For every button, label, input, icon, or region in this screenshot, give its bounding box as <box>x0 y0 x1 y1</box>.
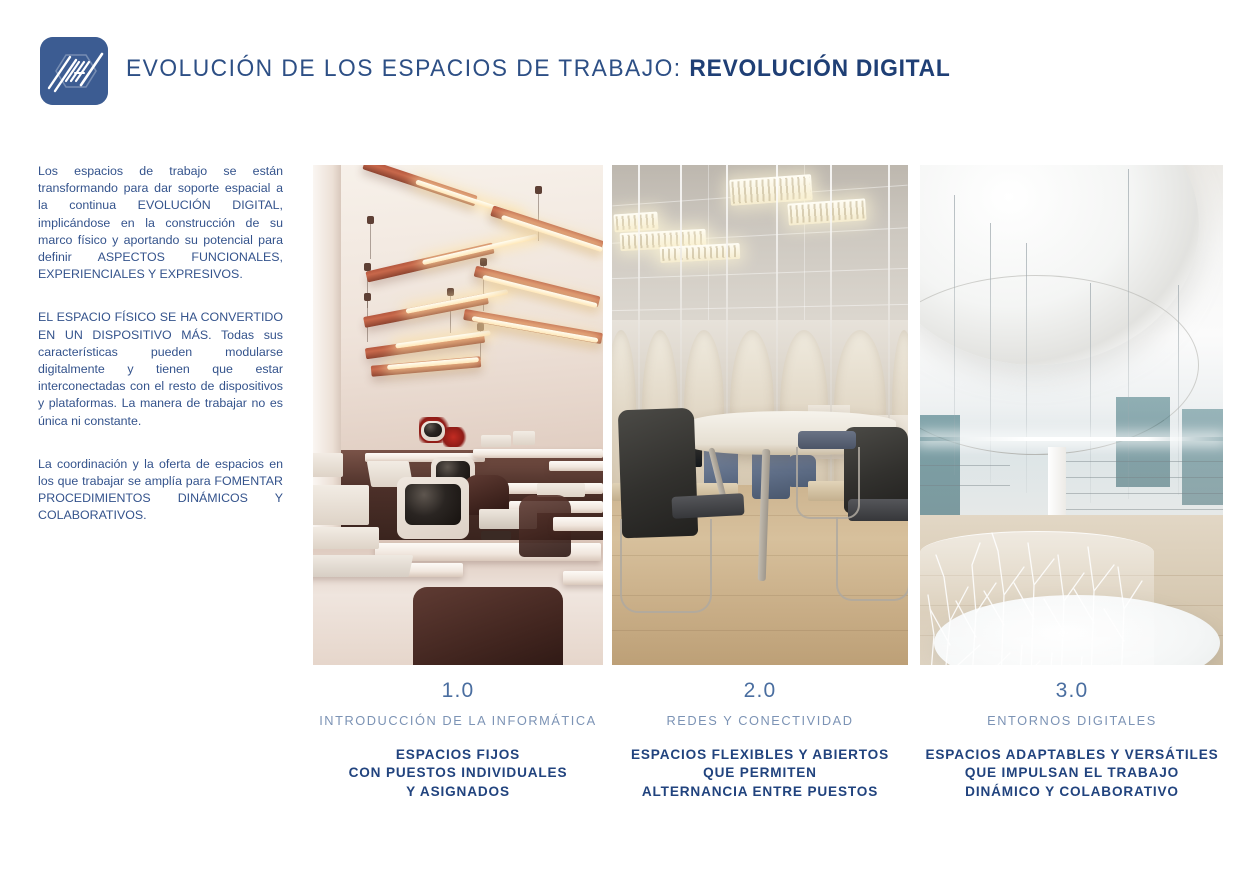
caption-group-2: 2.0 REDES Y CONECTIVIDAD ESPACIOS FLEXIB… <box>603 678 917 801</box>
caption-description-line: QUE PERMITEN <box>603 764 917 782</box>
caption-description-line: QUE IMPULSAN EL TRABAJO <box>909 764 1235 782</box>
caption-description-2: ESPACIOS FLEXIBLES Y ABIERTOS QUE PERMIT… <box>603 746 917 801</box>
photo-1-artwork <box>313 165 603 665</box>
caption-description-1: ESPACIOS FIJOS CON PUESTOS INDIVIDUALES … <box>295 746 621 801</box>
caption-description-line: DINÁMICO Y COLABORATIVO <box>909 783 1235 801</box>
caption-description-line: Y ASIGNADOS <box>295 783 621 801</box>
photo-gallery <box>313 165 1223 665</box>
caption-description-line: ESPACIOS FIJOS <box>295 746 621 764</box>
caption-phase-2: REDES Y CONECTIVIDAD <box>603 713 917 729</box>
caption-description-line: ESPACIOS FLEXIBLES Y ABIERTOS <box>603 746 917 764</box>
caption-description-line: ALTERNANCIA ENTRE PUESTOS <box>603 783 917 801</box>
company-monogram-icon <box>40 37 108 105</box>
page-title: EVOLUCIÓN DE LOS ESPACIOS DE TRABAJO: RE… <box>126 55 951 83</box>
caption-description-3: ESPACIOS ADAPTABLES Y VERSÁTILES QUE IMP… <box>909 746 1235 801</box>
caption-phase-3: ENTORNOS DIGITALES <box>909 713 1235 729</box>
caption-group-1: 1.0 INTRODUCCIÓN DE LA INFORMÁTICA ESPAC… <box>295 678 621 801</box>
caption-row: 1.0 INTRODUCCIÓN DE LA INFORMÁTICA ESPAC… <box>313 678 1223 838</box>
caption-description-line: CON PUESTOS INDIVIDUALES <box>295 764 621 782</box>
caption-description-line: ESPACIOS ADAPTABLES Y VERSÁTILES <box>909 746 1235 764</box>
caption-group-3: 3.0 ENTORNOS DIGITALES ESPACIOS ADAPTABL… <box>909 678 1235 801</box>
page-title-emphasis: REVOLUCIÓN DIGITAL <box>689 55 950 82</box>
caption-version-2: 2.0 <box>603 678 917 704</box>
intro-paragraph-1: Los espacios de trabajo se están transfo… <box>38 163 283 283</box>
gallery-photo-3 <box>920 165 1223 665</box>
page-title-main: EVOLUCIÓN DE LOS ESPACIOS DE TRABAJO: <box>126 55 689 82</box>
slide-canvas: EVOLUCIÓN DE LOS ESPACIOS DE TRABAJO: RE… <box>0 0 1246 881</box>
intro-paragraph-3: La coordinación y la oferta de espacios … <box>38 456 283 525</box>
gallery-photo-1 <box>313 165 603 665</box>
intro-paragraph-2: EL ESPACIO FÍSICO SE HA CONVERTIDO EN UN… <box>38 309 283 429</box>
slide-header: EVOLUCIÓN DE LOS ESPACIOS DE TRABAJO: RE… <box>0 0 1246 140</box>
gallery-photo-2 <box>612 165 908 665</box>
caption-version-3: 3.0 <box>909 678 1235 704</box>
photo-2-artwork <box>612 165 908 665</box>
intro-text-column: Los espacios de trabajo se están transfo… <box>38 163 283 525</box>
photo-3-artwork <box>920 165 1223 665</box>
caption-phase-1: INTRODUCCIÓN DE LA INFORMÁTICA <box>295 713 621 729</box>
caption-version-1: 1.0 <box>295 678 621 704</box>
